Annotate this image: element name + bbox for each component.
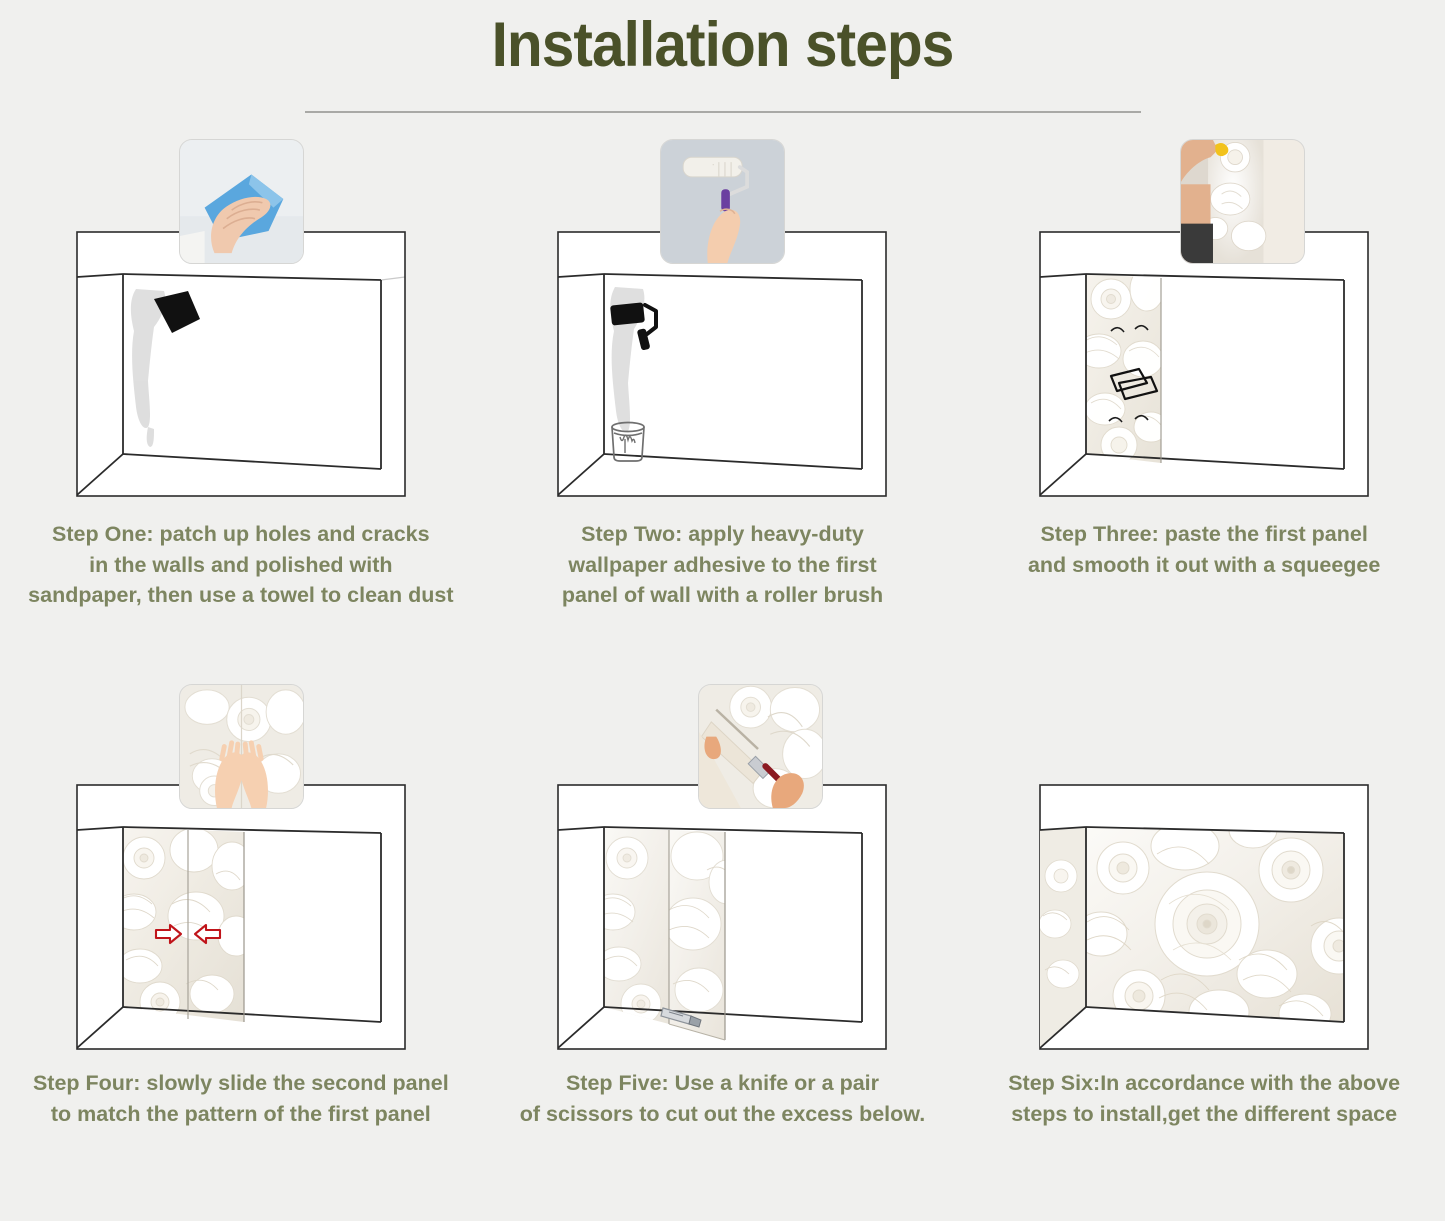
step-card-two: Step Two: apply heavy-duty wallpaper adh…	[482, 131, 964, 676]
room-scene-step-two	[557, 231, 887, 497]
caption-line: of scissors to cut out the excess below.	[490, 1099, 956, 1130]
step-caption-two: Step Two: apply heavy-duty wallpaper adh…	[482, 519, 964, 611]
hand-wiping-cloth-photo	[179, 139, 304, 264]
caption-line: Step Three: paste the first panel	[971, 519, 1437, 550]
caption-line: Step Six:In accordance with the above	[971, 1068, 1437, 1099]
step-card-four: Step Four: slowly slide the second panel…	[0, 676, 482, 1221]
caption-line: Step Two: apply heavy-duty	[490, 519, 956, 550]
step-caption-five: Step Five: Use a knife or a pair of scis…	[482, 1068, 964, 1129]
caption-line: and smooth it out with a squeegee	[971, 550, 1437, 581]
page-title: Installation steps	[51, 0, 1395, 77]
step-card-six: Step Six:In accordance with the above st…	[963, 676, 1445, 1221]
room-scene-step-six	[1039, 784, 1369, 1050]
hand-paint-roller-photo	[660, 139, 785, 264]
hand-pasting-panel-photo	[1180, 139, 1305, 264]
two-hands-smoothing-panel-photo	[179, 684, 304, 809]
step-caption-one: Step One: patch up holes and cracks in t…	[0, 519, 482, 611]
room-scene-step-five	[557, 784, 887, 1050]
step-card-one: Step One: patch up holes and cracks in t…	[0, 131, 482, 676]
step-caption-three: Step Three: paste the first panel and sm…	[963, 519, 1445, 580]
room-scene-step-three	[1039, 231, 1369, 497]
room-scene-step-four	[76, 784, 406, 1050]
step-caption-six: Step Six:In accordance with the above st…	[963, 1068, 1445, 1129]
installation-steps-grid: Step One: patch up holes and cracks in t…	[0, 131, 1445, 1221]
caption-line: panel of wall with a roller brush	[490, 580, 956, 611]
room-scene-step-one	[76, 231, 406, 497]
caption-line: Step One: patch up holes and cracks	[8, 519, 474, 550]
step-caption-four: Step Four: slowly slide the second panel…	[0, 1068, 482, 1129]
step-card-three: Step Three: paste the first panel and sm…	[963, 131, 1445, 676]
caption-line: to match the pattern of the first panel	[8, 1099, 474, 1130]
step-card-five: Step Five: Use a knife or a pair of scis…	[482, 676, 964, 1221]
caption-line: sandpaper, then use a towel to clean dus…	[8, 580, 474, 611]
caption-line: steps to install,get the different space	[971, 1099, 1437, 1130]
title-divider	[305, 111, 1141, 113]
hand-cutting-panel-photo	[698, 684, 823, 809]
caption-line: Step Four: slowly slide the second panel	[8, 1068, 474, 1099]
caption-line: in the walls and polished with	[8, 550, 474, 581]
caption-line: Step Five: Use a knife or a pair	[490, 1068, 956, 1099]
caption-line: wallpaper adhesive to the first	[490, 550, 956, 581]
